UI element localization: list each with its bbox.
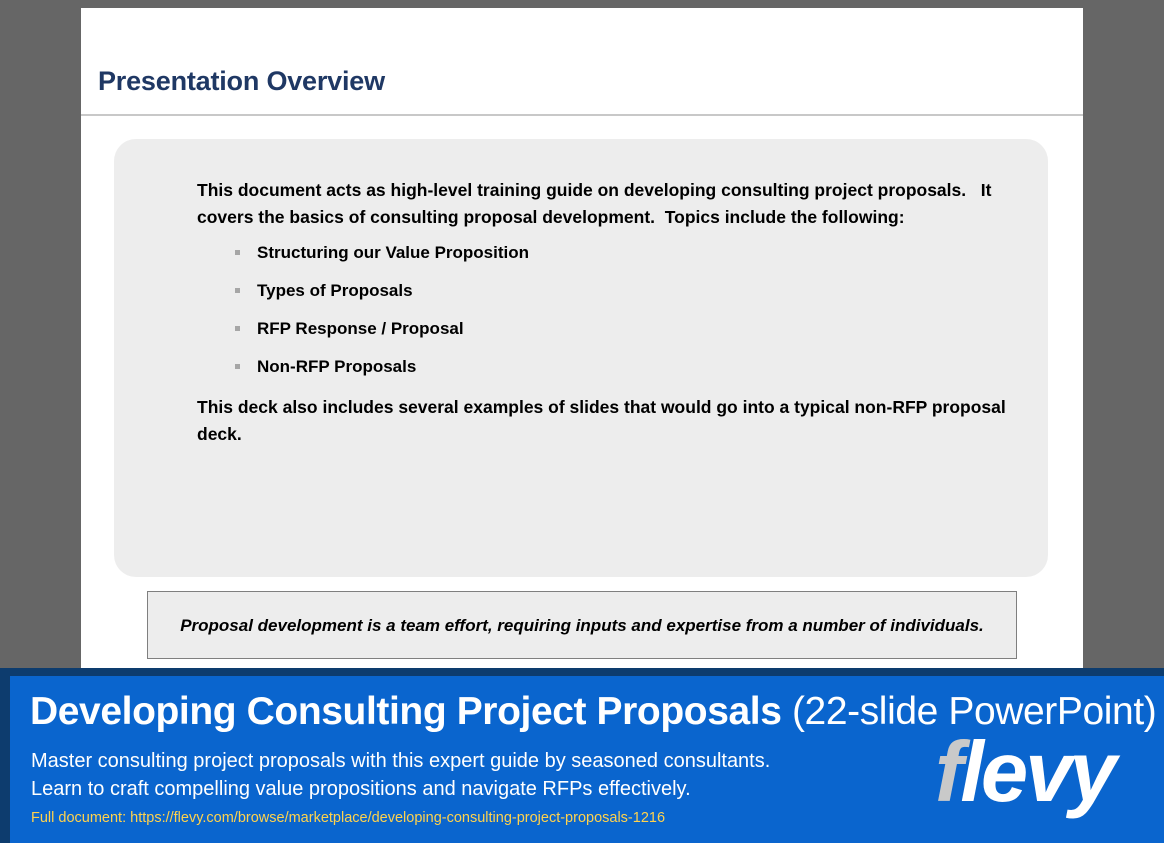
- intro-paragraph: This document acts as high-level trainin…: [197, 177, 1019, 231]
- flevy-logo-levy: levy: [960, 725, 1113, 820]
- list-item: RFP Response / Proposal: [235, 318, 1019, 339]
- banner-subtitle-line-2: Learn to craft compelling value proposit…: [31, 778, 691, 801]
- slide-canvas: Presentation Overview This document acts…: [81, 8, 1083, 668]
- bullet-square-icon: [235, 364, 240, 369]
- flevy-logo-f: f: [935, 725, 960, 820]
- content-panel: This document acts as high-level trainin…: [114, 139, 1048, 577]
- bullet-square-icon: [235, 288, 240, 293]
- list-item-label: Structuring our Value Proposition: [257, 243, 529, 262]
- list-item: Types of Proposals: [235, 280, 1019, 301]
- banner-left-edge: [0, 668, 10, 843]
- banner-subtitle-line-1: Master consulting project proposals with…: [31, 750, 770, 773]
- callout-box: Proposal development is a team effort, r…: [147, 591, 1017, 659]
- body-text-block: This document acts as high-level trainin…: [197, 177, 1019, 448]
- bullet-square-icon: [235, 326, 240, 331]
- list-item: Non-RFP Proposals: [235, 356, 1019, 377]
- list-item-label: Types of Proposals: [257, 281, 413, 300]
- bullet-square-icon: [235, 250, 240, 255]
- page-title: Presentation Overview: [98, 66, 385, 97]
- closing-paragraph: This deck also includes several examples…: [197, 394, 1019, 448]
- title-divider: [81, 114, 1083, 116]
- list-item-label: RFP Response / Proposal: [257, 319, 464, 338]
- list-item-label: Non-RFP Proposals: [257, 357, 416, 376]
- banner-title-main: Developing Consulting Project Proposals: [30, 690, 782, 733]
- document-url-link[interactable]: Full document: https://flevy.com/browse/…: [31, 810, 665, 826]
- list-item: Structuring our Value Proposition: [235, 242, 1019, 263]
- flevy-logo[interactable]: flevy: [935, 730, 1114, 815]
- topics-list: Structuring our Value Proposition Types …: [197, 242, 1019, 377]
- banner-top-edge: [0, 668, 1164, 676]
- callout-text: Proposal development is a team effort, r…: [170, 612, 994, 639]
- flevy-promo-banner: Developing Consulting Project Proposals …: [0, 668, 1164, 843]
